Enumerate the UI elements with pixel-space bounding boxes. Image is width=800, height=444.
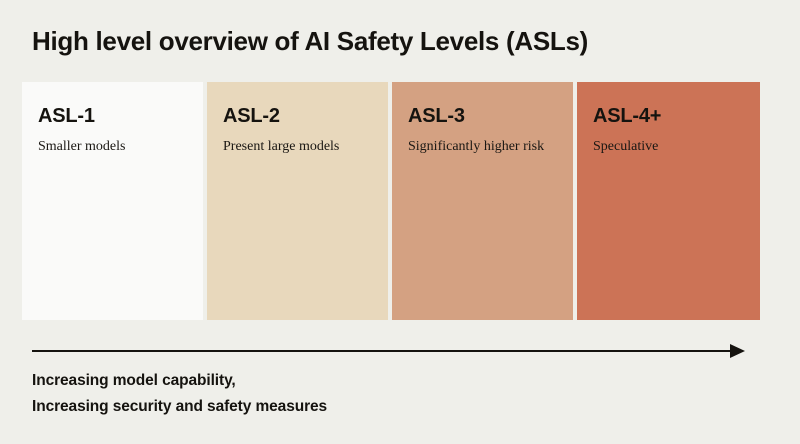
- axis-caption: Increasing model capability, Increasing …: [32, 368, 732, 420]
- asl-level-description-3: Significantly higher risk: [408, 137, 553, 156]
- asl-level-description-4: Speculative: [593, 137, 738, 156]
- axis-caption-line-2: Increasing security and safety measures: [32, 394, 732, 420]
- asl-level-card-3: ASL-3 Significantly higher risk: [392, 82, 573, 320]
- asl-level-description-2: Present large models: [223, 137, 368, 156]
- asl-level-label-3: ASL-3: [408, 104, 573, 128]
- axis-caption-line-1: Increasing model capability,: [32, 368, 732, 394]
- asl-level-card-1: ASL-1 Smaller models: [22, 82, 203, 320]
- asl-level-panels: ASL-1 Smaller models ASL-2 Present large…: [22, 82, 764, 320]
- right-arrow-icon: [32, 342, 747, 360]
- asl-level-label-4: ASL-4+: [593, 104, 760, 128]
- asl-overview-figure: High level overview of AI Safety Levels …: [0, 0, 800, 444]
- page-title: High level overview of AI Safety Levels …: [32, 24, 762, 58]
- asl-level-card-4: ASL-4+ Speculative: [577, 82, 760, 320]
- asl-level-label-2: ASL-2: [223, 104, 388, 128]
- asl-level-card-2: ASL-2 Present large models: [207, 82, 388, 320]
- asl-level-description-1: Smaller models: [38, 137, 183, 156]
- asl-level-label-1: ASL-1: [38, 104, 203, 128]
- progression-arrow: [32, 342, 747, 360]
